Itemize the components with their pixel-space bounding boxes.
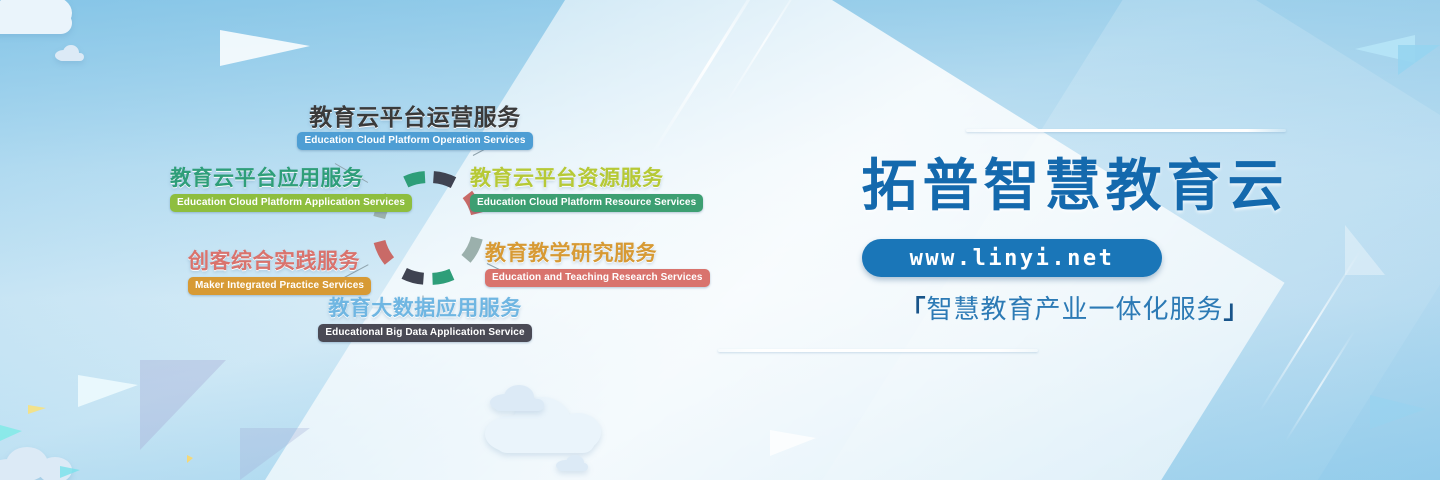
service-label-cn: 教育云平台运营服务 [265,105,565,129]
service-label-operation: 教育云平台运营服务 Education Cloud Platform Opera… [265,105,565,150]
website-url-button[interactable]: www.linyi.net [862,239,1162,277]
decor-triangle [28,405,46,414]
brand-tagline-text: 智慧教育产业一体化服务 [926,294,1223,324]
service-label-bigdata: 教育大数据应用服务 Educational Big Data Applicati… [280,297,570,342]
cloud-icon [0,445,76,480]
service-label-research: 教育教学研究服务 Education and Teaching Research… [485,242,710,287]
brand-tagline: 「智慧教育产业一体化服务」 [815,292,1335,327]
brand-block: 拓普智慧教育云 www.linyi.net 「智慧教育产业一体化服务」 [700,0,1440,480]
decor-triangle [140,360,226,450]
service-label-en: Maker Integrated Practice Services [188,277,371,295]
decor-triangle [220,30,310,66]
decor-triangle [0,425,22,441]
cloud-icon [55,45,85,61]
bracket-close: 」 [1224,296,1250,324]
decor-triangle [187,455,193,463]
service-label-application: 教育云平台应用服务 Education Cloud Platform Appli… [170,167,412,212]
decor-triangle [78,375,138,407]
services-infographic: 教育云平台运营服务 Education Cloud Platform Opera… [155,105,675,355]
decor-triangle [240,428,310,480]
promo-banner: 教育云平台运营服务 Education Cloud Platform Opera… [0,0,1440,480]
service-label-en: Education Cloud Platform Application Ser… [170,194,412,212]
service-label-en: Education Cloud Platform Resource Servic… [470,194,703,212]
service-label-maker: 创客综合实践服务 Maker Integrated Practice Servi… [188,250,371,295]
divider-top [966,129,1286,132]
service-label-en: Education Cloud Platform Operation Servi… [297,132,532,150]
cloud-icon [0,0,90,37]
cloud-icon [490,385,548,411]
service-label-cn: 教育云平台资源服务 [470,167,703,191]
service-label-cn: 教育教学研究服务 [485,242,710,266]
service-label-cn: 教育大数据应用服务 [280,297,570,321]
service-label-cn: 创客综合实践服务 [188,250,371,274]
divider-bottom [718,349,1038,352]
page-title: 拓普智慧教育云 [815,155,1335,217]
service-label-en: Education and Teaching Research Services [485,269,710,287]
service-label-en: Educational Big Data Application Service [318,324,531,342]
cloud-icon [556,455,590,471]
website-url-text: www.linyi.net [910,246,1115,271]
service-label-resource: 教育云平台资源服务 Education Cloud Platform Resou… [470,167,703,212]
service-label-cn: 教育云平台应用服务 [170,167,412,191]
bracket-open: 「 [900,296,926,324]
